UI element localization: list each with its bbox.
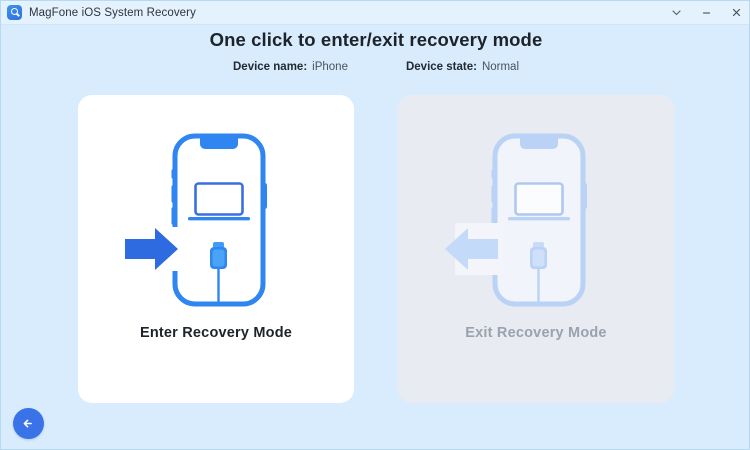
- exit-recovery-mode-card[interactable]: Exit Recovery Mode: [398, 95, 674, 403]
- back-arrow-icon: [20, 415, 37, 432]
- device-info: Device name: iPhone Device state: Normal: [1, 61, 750, 73]
- app-window: MagFone iOS System Recovery One click to…: [0, 0, 750, 450]
- device-state: Device state: Normal: [406, 61, 519, 73]
- device-name-value: iPhone: [312, 61, 348, 73]
- page-title: One click to enter/exit recovery mode: [1, 29, 750, 51]
- window-controls: [661, 1, 750, 25]
- minimize-icon[interactable]: [691, 1, 721, 25]
- chevron-down-icon[interactable]: [661, 1, 691, 25]
- window-title: MagFone iOS System Recovery: [29, 7, 196, 19]
- exit-recovery-illustration: [398, 129, 674, 319]
- enter-recovery-illustration: [78, 129, 354, 319]
- enter-recovery-mode-label: Enter Recovery Mode: [78, 325, 354, 341]
- magfone-app-icon: [7, 5, 22, 20]
- mode-cards: Enter Recovery Mode: [78, 95, 674, 403]
- close-icon[interactable]: [721, 1, 750, 25]
- enter-recovery-mode-card[interactable]: Enter Recovery Mode: [78, 95, 354, 403]
- device-state-value: Normal: [482, 61, 519, 73]
- device-state-label: Device state:: [406, 61, 477, 73]
- exit-recovery-mode-label: Exit Recovery Mode: [398, 325, 674, 341]
- device-name: Device name: iPhone: [233, 61, 348, 73]
- device-name-label: Device name:: [233, 61, 307, 73]
- title-bar: MagFone iOS System Recovery: [1, 1, 750, 25]
- back-button[interactable]: [13, 408, 44, 439]
